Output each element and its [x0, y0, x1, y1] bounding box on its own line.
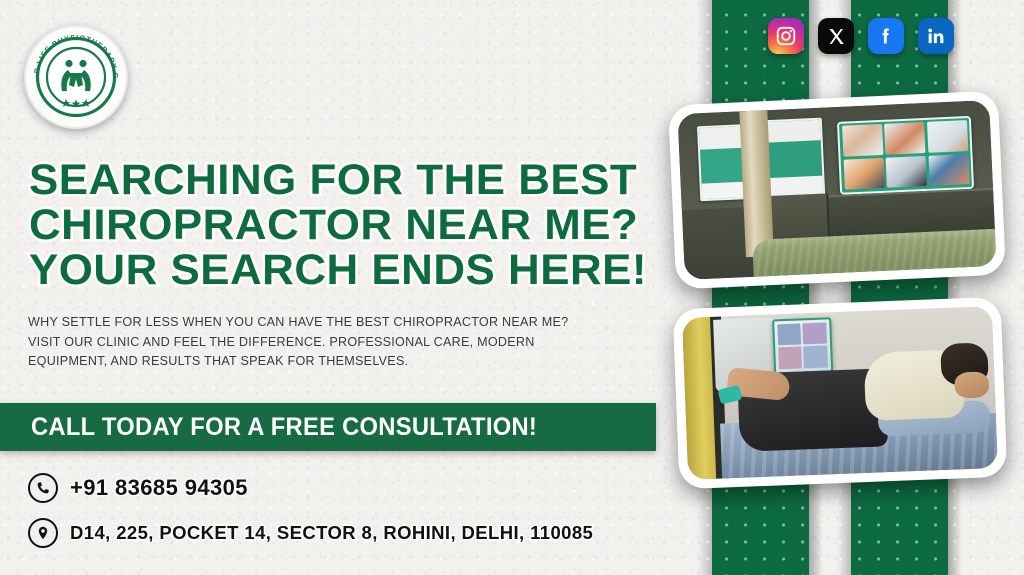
phone-number: +91 83685 94305 — [70, 475, 248, 501]
stripe-shadow — [948, 0, 962, 575]
stripe-shadow — [837, 0, 851, 575]
linkedin-icon[interactable] — [918, 18, 954, 54]
green-stripe-2 — [851, 0, 948, 575]
poster-lightbox — [837, 116, 974, 195]
clinic-interior-photo — [668, 91, 1006, 290]
x-icon[interactable] — [818, 18, 854, 54]
therapy-device — [772, 317, 833, 374]
instagram-icon[interactable] — [768, 18, 804, 54]
headline-line-1: SEARCHING FOR THE BEST — [29, 158, 641, 203]
patient-face — [954, 371, 989, 398]
headline: SEARCHING FOR THE BEST CHIROPRACTOR NEAR… — [29, 158, 629, 293]
clinic-scene — [677, 100, 996, 280]
social-links[interactable] — [768, 18, 954, 54]
green-stripe-1 — [712, 0, 809, 575]
clinic-logo: FIT FOR LIFE PHYSIOTHERAPY CLINIC — [24, 25, 128, 129]
photo-inner — [682, 306, 998, 480]
address-text: D14, 225, POCKET 14, SECTOR 8, ROHINI, D… — [70, 522, 593, 544]
wall-poster — [765, 118, 825, 198]
headline-line-3: YOUR SEARCH ENDS HERE! — [29, 248, 641, 293]
treatment-session-photo — [673, 297, 1008, 489]
contact-phone[interactable]: +91 83685 94305 — [28, 473, 248, 503]
headline-line-2: CHIROPRACTOR NEAR ME? — [29, 203, 641, 248]
phone-icon — [28, 473, 58, 503]
logo-mark-icon: FIT FOR LIFE PHYSIOTHERAPY CLINIC — [24, 25, 128, 129]
contact-address[interactable]: D14, 225, POCKET 14, SECTOR 8, ROHINI, D… — [28, 518, 593, 548]
promotional-banner: FIT FOR LIFE PHYSIOTHERAPY CLINIC — [0, 0, 1024, 575]
body-copy: WHY SETTLE FOR LESS WHEN YOU CAN HAVE TH… — [28, 313, 588, 372]
location-pin-icon — [28, 518, 58, 548]
treatment-scene — [682, 306, 998, 480]
facebook-icon[interactable] — [868, 18, 904, 54]
stripe-shadow — [809, 0, 823, 575]
body-line-2: VISIT OUR CLINIC AND FEEL THE DIFFERENCE… — [28, 333, 588, 353]
body-line-3: EQUIPMENT, AND RESULTS THAT SPEAK FOR TH… — [28, 352, 588, 372]
cta-banner[interactable]: CALL TODAY FOR A FREE CONSULTATION! — [0, 403, 656, 451]
body-line-1: WHY SETTLE FOR LESS WHEN YOU CAN HAVE TH… — [28, 313, 588, 333]
cta-label: CALL TODAY FOR A FREE CONSULTATION! — [31, 413, 537, 442]
photo-inner — [677, 100, 996, 280]
